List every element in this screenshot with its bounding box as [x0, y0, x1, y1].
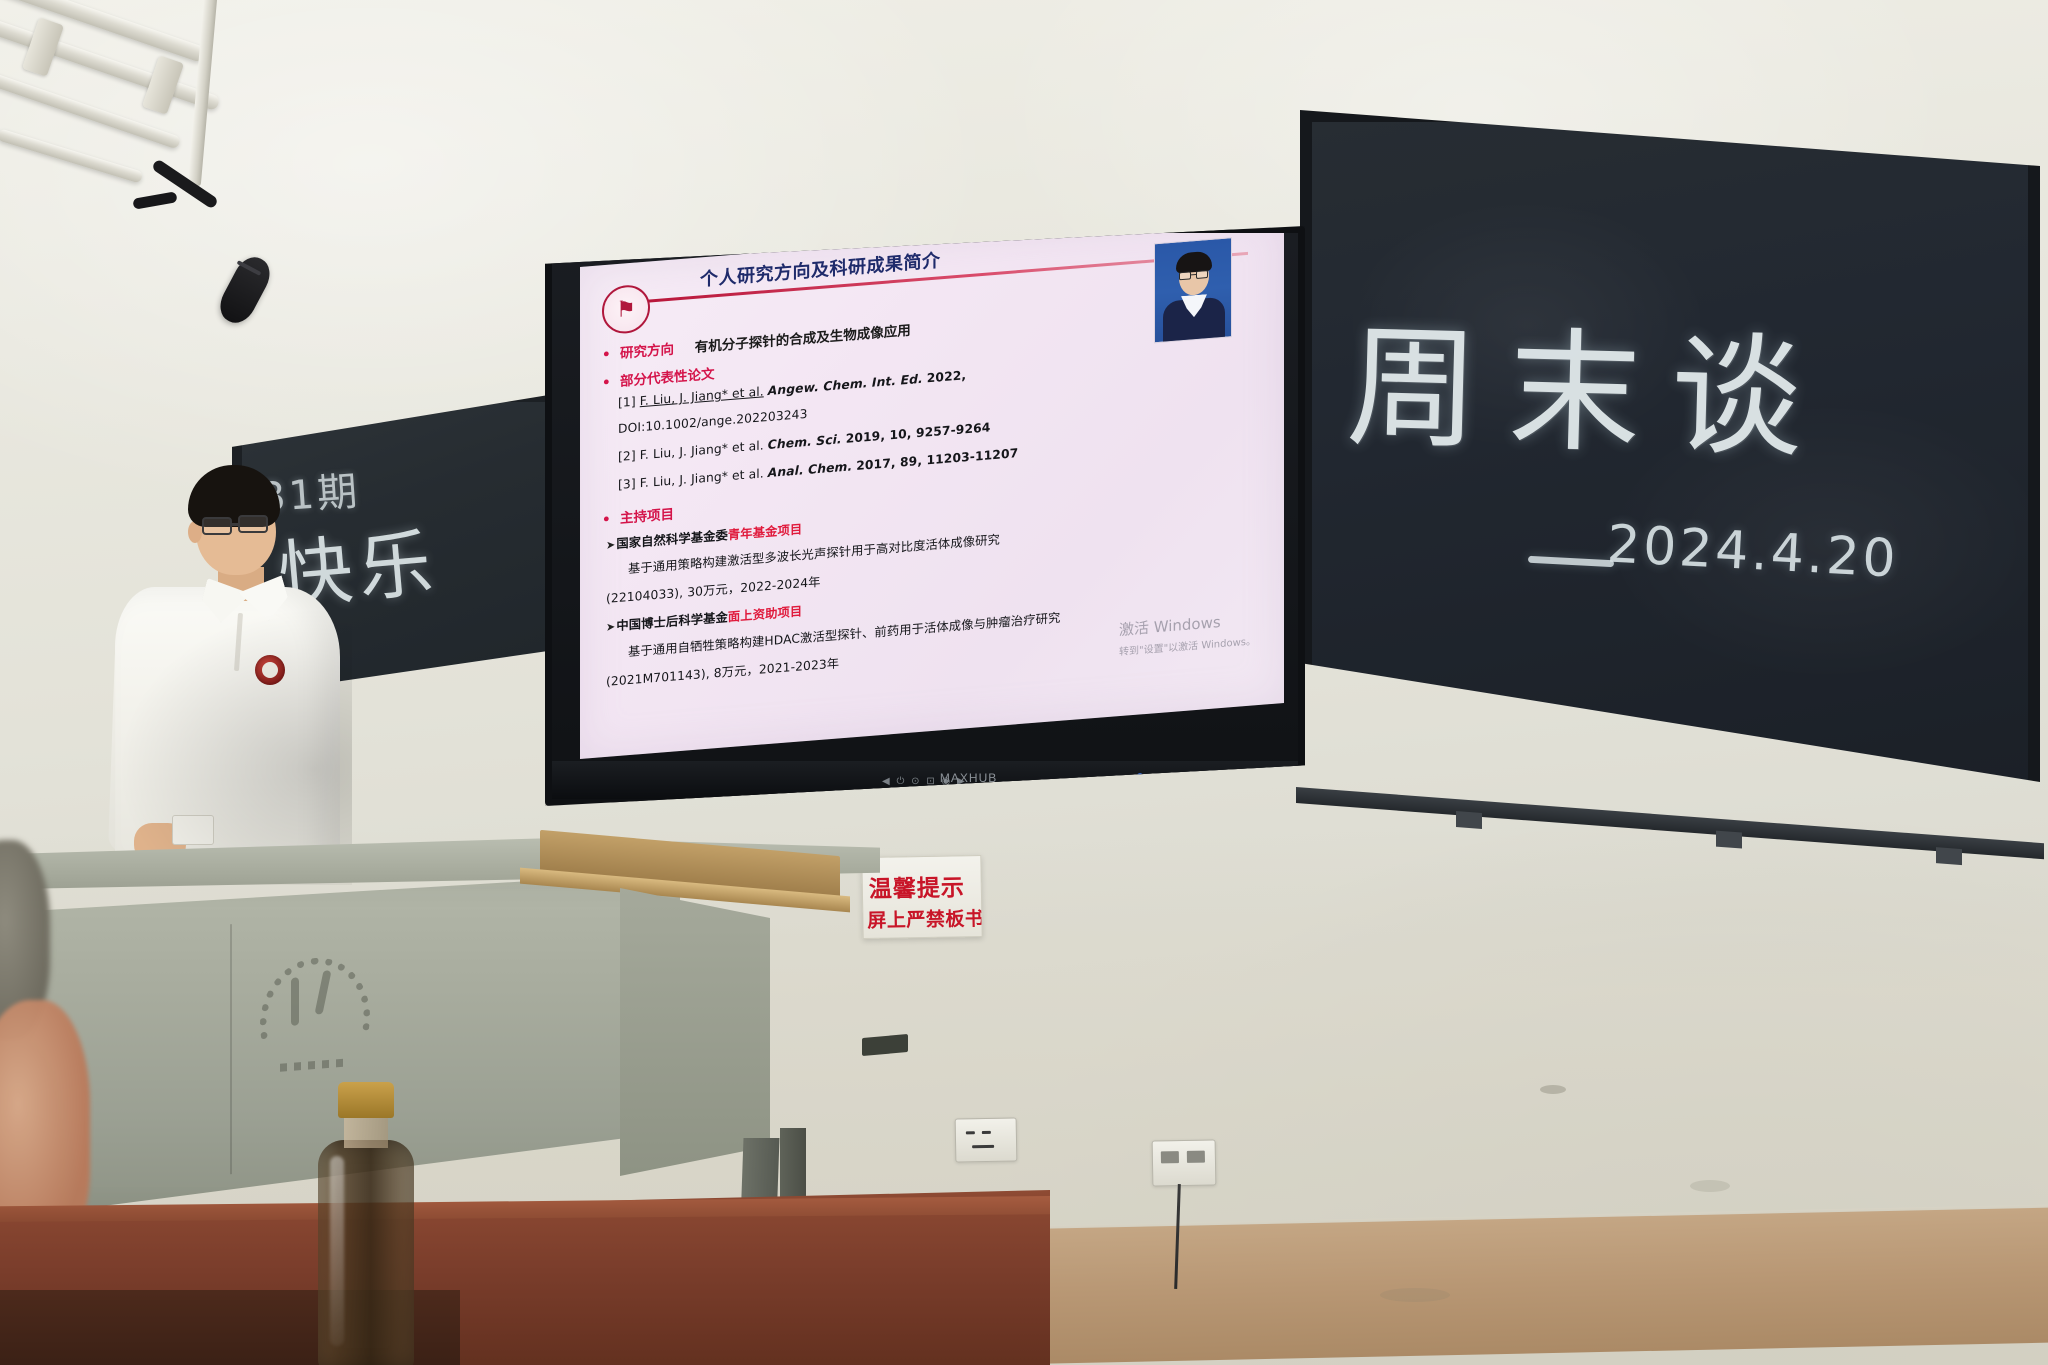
- bottle-cap: [338, 1082, 394, 1118]
- emblem-dot-row: [280, 1058, 350, 1072]
- tray-bracket: [1716, 831, 1742, 849]
- socket-hole: [966, 1131, 975, 1134]
- university-seal-icon: ⚑: [602, 283, 650, 335]
- emblem-stroke: [291, 977, 299, 1026]
- socket-hole: [972, 1145, 994, 1148]
- wall-display[interactable]: 个人研究方向及科研成果简介 ⚑ • 研究方向 有机分: [545, 226, 1305, 806]
- windows-activation-watermark: 激活 Windows 转到"设置"以激活 Windows。: [1119, 608, 1256, 658]
- socket-port: [1161, 1151, 1179, 1163]
- slide-content: 个人研究方向及科研成果简介 ⚑ • 研究方向 有机分: [580, 226, 1284, 759]
- speaker-glasses-right: [238, 515, 268, 533]
- socket-port: [1187, 1151, 1205, 1163]
- speaker-person: [60, 455, 360, 875]
- tray-bracket: [1456, 811, 1482, 829]
- seal-glyph: ⚑: [616, 296, 636, 323]
- socket-hole: [982, 1131, 991, 1134]
- speaker-glasses-left: [202, 517, 232, 535]
- lecture-room-photo: 31期 快乐 周末谈 2024.4.20 个人研究方向及科研成果简介 ⚑: [0, 0, 2048, 1365]
- water-bottle: [310, 1082, 422, 1365]
- speaker-glasses-bridge: [231, 523, 240, 526]
- tray-bracket: [1936, 847, 1962, 865]
- slide-heading-projects: • 主持项目: [602, 503, 674, 529]
- wall-scuff: [1690, 1180, 1730, 1192]
- wall-data-socket: [1152, 1139, 1217, 1186]
- bottle-highlight: [330, 1156, 344, 1346]
- shirt-logo-inner: [262, 662, 278, 678]
- portrait-glasses-left: [1179, 271, 1191, 280]
- portrait-glasses-right: [1196, 270, 1208, 279]
- podium-emblem-icon: [260, 954, 370, 1088]
- wall-power-socket: [955, 1117, 1018, 1162]
- slide-heading-research-direction: • 研究方向 有机分子探针的合成及生物成像应用: [602, 319, 911, 364]
- citation-1-doi: DOI:10.1002/ange.202203243: [618, 407, 808, 436]
- slide-heading-papers: • 部分代表性论文: [602, 362, 715, 391]
- wall-scuff: [1540, 1085, 1566, 1094]
- presentation-slide: 个人研究方向及科研成果简介 ⚑ • 研究方向 有机分: [580, 226, 1284, 759]
- speaker-portrait-photo: [1154, 237, 1232, 343]
- bottle-neck: [344, 1114, 388, 1148]
- floor: [980, 1208, 2048, 1365]
- wall-scuff: [1380, 1288, 1450, 1302]
- shirt-logo-icon: [255, 655, 285, 685]
- chalk-headline: 周末谈: [1345, 281, 1836, 485]
